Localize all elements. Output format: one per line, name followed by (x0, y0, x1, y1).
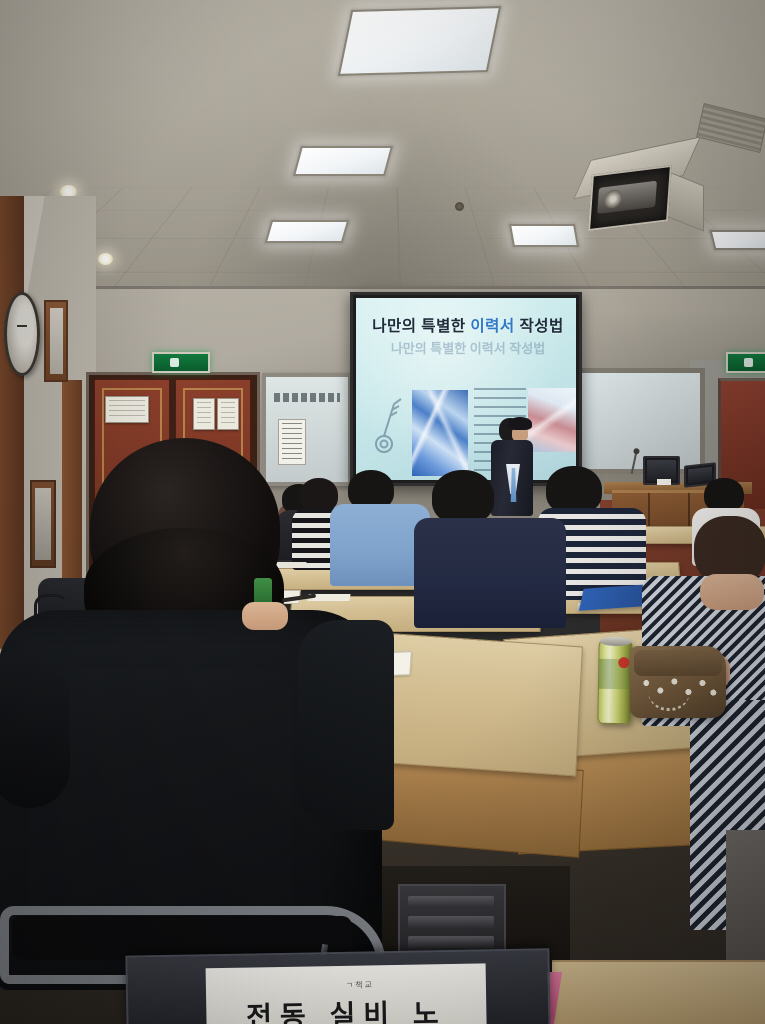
ceiling-light-panel (293, 146, 393, 176)
foreground-sign-paper: ㄱ책교 전동 실비 노 (206, 963, 487, 1024)
exit-sign-right (726, 352, 765, 373)
ceiling-projector (588, 165, 672, 231)
desk-bottom-right (552, 960, 765, 1024)
attendee-arm (700, 574, 764, 610)
wall-picture-frame (44, 300, 68, 382)
slide-title: 나만의 특별한 이력서 작성법 (364, 314, 572, 336)
beverage-can (597, 640, 632, 725)
foreground-arm-right (298, 620, 394, 830)
attendee-head (704, 478, 744, 512)
slide-body (366, 382, 570, 476)
ceiling-downlight (98, 253, 113, 265)
door-notice (105, 396, 149, 423)
foreground-shoulder-left (0, 658, 70, 808)
presenter-hair (508, 417, 532, 430)
laptop-screen (688, 467, 712, 484)
whiteboard-heading-text (274, 393, 340, 402)
presenter-head (499, 418, 521, 442)
attendee-head (546, 466, 602, 514)
slide-title-highlight: 이력서 (470, 318, 514, 335)
notice-text-lines (109, 400, 145, 419)
attendee-head (300, 478, 338, 512)
attendee-head (432, 470, 494, 524)
whiteboard-posted-note (278, 419, 306, 465)
wall-clock-icon (4, 292, 40, 376)
wall-picture-frame (30, 480, 56, 568)
key-icon (368, 394, 404, 456)
wall-picture-frame-inner (35, 488, 51, 560)
foreground-sign-main-text: 전동 실비 노 (206, 991, 487, 1024)
projection-screen-surface: 나만의 특별한 이력서 작성법 나만의 특별한 이력서 작성법 (356, 298, 576, 480)
wall-picture-frame-inner (50, 308, 63, 374)
rack-slot (408, 896, 494, 908)
rack-slot (408, 936, 494, 948)
ceiling-light-panel (710, 230, 765, 250)
can-lid (600, 637, 632, 647)
handbag-flap (634, 650, 722, 676)
ceiling-light-panel (338, 6, 501, 76)
small-green-can (254, 578, 272, 604)
slide-title-part2: 작성법 (515, 318, 564, 335)
presenter (489, 418, 537, 518)
door-notice (193, 398, 215, 430)
notice-text-lines (221, 402, 235, 426)
photo-scene: 나만의 특별한 이력서 작성법 나만의 특별한 이력서 작성법 (0, 0, 765, 1024)
exit-sign-left (152, 352, 210, 373)
ceiling-light-panel (509, 224, 579, 247)
foreground-hand (242, 602, 288, 630)
projection-screen: 나만의 특별한 이력서 작성법 나만의 특별한 이력서 작성법 (350, 292, 582, 486)
slide-title-ghost-reflection: 나만의 특별한 이력서 작성법 (364, 338, 572, 357)
notice-text-lines (197, 402, 211, 426)
sprinkler-head-icon (455, 202, 464, 211)
door-notice (217, 398, 239, 430)
ceiling-wall-seam (0, 286, 765, 289)
note-text-lines (282, 423, 302, 461)
podium-paper (657, 479, 671, 485)
monitor-screen (647, 460, 676, 481)
foreground-sign-board: ㄱ책교 전동 실비 노 (125, 948, 550, 1024)
slide-title-part1: 나만의 특별한 (372, 318, 470, 335)
presenter-suit (491, 440, 533, 516)
rack-slot (408, 916, 494, 928)
slide-image-blue-abstract (412, 390, 468, 476)
notice-whiteboard-left (262, 373, 352, 486)
whiteboard-right (570, 368, 705, 474)
ceiling-light-panel (265, 220, 350, 243)
left-wall-column (62, 380, 82, 600)
attendee-torso (414, 518, 566, 628)
